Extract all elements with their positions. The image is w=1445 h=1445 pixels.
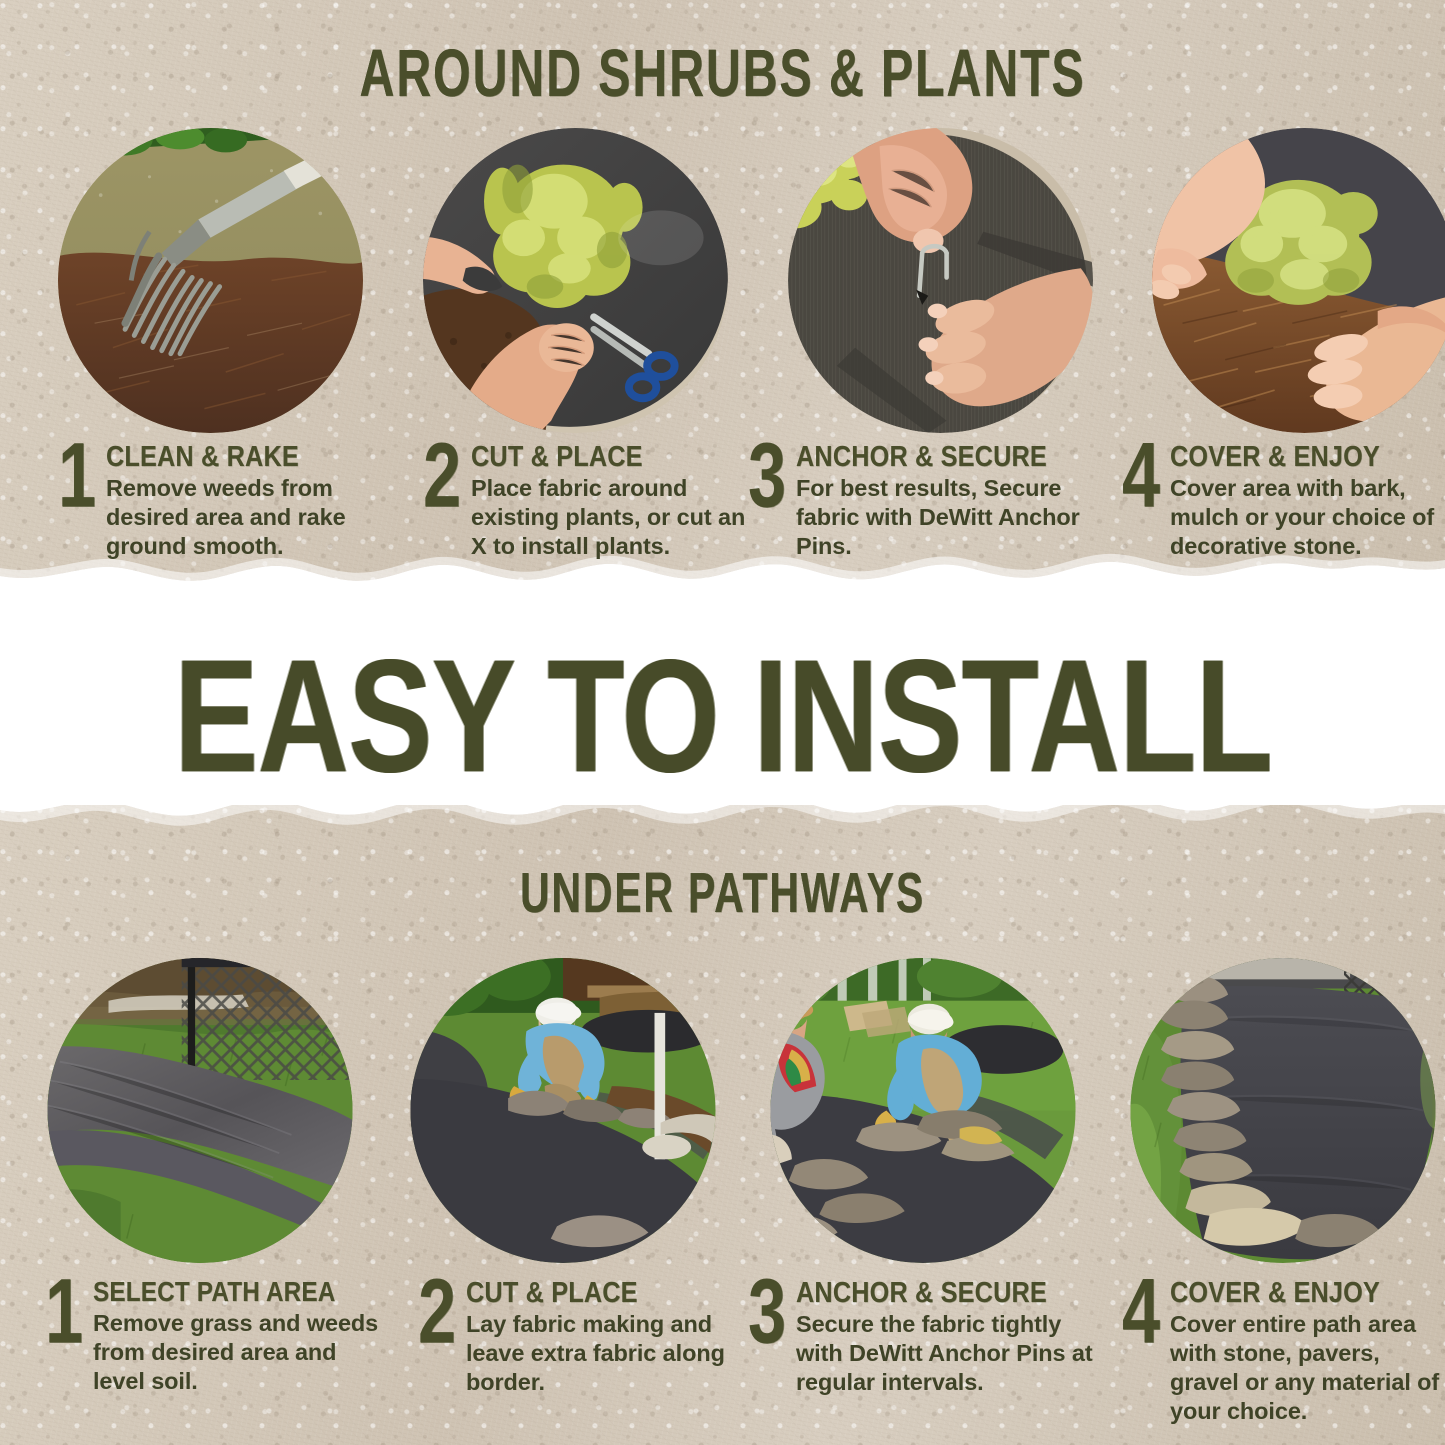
photo-clean-and-rake [58,128,363,433]
easy-to-install-banner: EASY TO INSTALL [0,636,1445,768]
step-description: Place fabric around existing plants, or … [471,474,753,561]
banner-headline: EASY TO INSTALL [173,636,1271,797]
step-number: 1 [45,1274,84,1349]
step-number: 2 [418,1274,457,1349]
step-heading: ANCHOR & SECURE [796,1278,1089,1308]
photo-anchor-and-secure-path [768,958,1078,1263]
photo-cut-and-place [423,128,728,433]
step-block: 1 SELECT PATH AREA Remove grass and weed… [45,1278,390,1396]
step-block: 4 COVER & ENJOY Cover area with bark, mu… [1122,442,1445,561]
step-number: 3 [748,438,787,513]
step-description: Secure the fabric tightly with DeWitt An… [796,1310,1098,1397]
step-block: 1 CLEAN & RAKE Remove weeds from desired… [58,442,388,561]
photo-cover-and-enjoy [1152,128,1445,433]
step-heading: COVER & ENJOY [1170,442,1439,472]
step-number: 4 [1122,1274,1161,1349]
step-description: Remove grass and weeds from desired area… [93,1309,390,1396]
step-heading: COVER & ENJOY [1170,1278,1439,1308]
step-description: Remove weeds from desired area and rake … [106,474,388,561]
photo-cover-and-enjoy-path [1128,958,1438,1263]
step-description: Cover entire path area with stone, paver… [1170,1310,1445,1427]
step-heading: SELECT PATH AREA [93,1278,381,1307]
section-title-pathways: UNDER PATHWAYS [51,862,1395,926]
step-heading: ANCHOR & SECURE [796,442,1089,472]
step-block: 3 ANCHOR & SECURE Secure the fabric tigh… [748,1278,1098,1397]
step-block: 4 COVER & ENJOY Cover entire path area w… [1122,1278,1445,1426]
step-description: Lay fabric making and leave extra fabric… [466,1310,748,1397]
step-block: 2 CUT & PLACE Lay fabric making and leav… [418,1278,748,1397]
step-number: 4 [1122,438,1161,513]
step-description: For best results, Secure fabric with DeW… [796,474,1098,561]
step-number: 2 [423,438,462,513]
photo-anchor-and-secure [788,128,1093,433]
step-heading: CUT & PLACE [466,1278,740,1308]
section-title-shrubs: AROUND SHRUBS & PLANTS [51,36,1395,113]
step-description: Cover area with bark, mulch or your choi… [1170,474,1445,561]
step-number: 3 [748,1274,787,1349]
step-heading: CUT & PLACE [471,442,745,472]
photo-cut-and-place-path [408,958,718,1263]
step-block: 3 ANCHOR & SECURE For best results, Secu… [748,442,1098,561]
step-heading: CLEAN & RAKE [106,442,380,472]
step-block: 2 CUT & PLACE Place fabric around existi… [423,442,753,561]
step-number: 1 [58,438,97,513]
photo-select-path-area [45,958,355,1263]
